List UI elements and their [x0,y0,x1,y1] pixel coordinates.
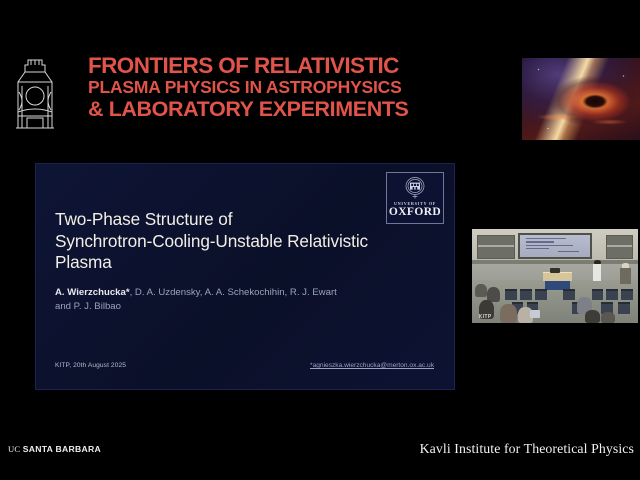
kitp-building-icon [8,56,62,136]
slide-contact-email[interactable]: *agnieszka.wierzchucka@merton.ox.ac.uk [310,362,434,369]
audience-laptop [530,310,540,318]
slide-title: Two-Phase Structure of Synchrotron-Cooli… [55,209,385,274]
coauthor-names: , D. A. Uzdensky, A. A. Schekochihin, R.… [130,287,337,298]
audience-member [500,304,517,323]
audience-member [585,310,600,323]
ucsb-logo-uc: UC [8,444,23,454]
ucsb-logo: UC SANTA BARBARA [8,444,101,454]
astro-jet-graphic [522,58,640,140]
lecture-hall-camera-feed[interactable]: KITP [470,227,640,325]
conference-title-line-3: & LABORATORY EXPERIMENTS [88,98,488,121]
presenter-laptop [550,268,560,273]
kitp-watermark: KITP [479,314,492,320]
audience-chair [606,289,618,300]
lecture-hall-scene: KITP [472,229,638,323]
oxford-logo-line-2: OXFORD [389,206,441,218]
conference-header-banner: FRONTIERS OF RELATIVISTIC PLASMA PHYSICS… [0,40,512,148]
conference-title: FRONTIERS OF RELATIVISTIC PLASMA PHYSICS… [88,54,488,121]
first-author-name: A. Wierzchucka* [55,287,130,298]
audience-chair [563,289,575,300]
astrophysical-jet-thumbnail[interactable] [512,48,640,148]
slide-author-list: A. Wierzchucka*, D. A. Uzdensky, A. A. S… [55,286,415,313]
presentation-slide[interactable]: UNIVERSITY OF OXFORD Two-Phase Structure… [35,163,455,390]
audience-chair [535,289,547,300]
author-list-line-2: and P. J. Bilbao [55,300,415,314]
conference-title-line-2: PLASMA PHYSICS IN ASTROPHYSICS [88,77,488,98]
audience-chair [592,289,604,300]
audience-chair [505,289,517,300]
audience-chair [520,289,532,300]
audience-member [475,284,487,297]
letterbox-top [0,0,640,40]
ucsb-logo-name: SANTA BARBARA [23,444,101,454]
oxford-university-logo: UNIVERSITY OF OXFORD [386,172,444,224]
podium-lamp [620,268,632,283]
projector-screen [518,233,591,259]
speaker-figure [593,260,601,281]
slide-title-line-3: Plasma [55,252,385,274]
video-player-stage: FRONTIERS OF RELATIVISTIC PLASMA PHYSICS… [0,0,640,480]
footer-bar: UC SANTA BARBARA Kavli Institute for The… [0,438,640,480]
oxford-crest-icon [404,176,426,200]
chalk-rail [472,260,638,264]
audience-chair [618,302,630,313]
chalkboard-right [606,235,633,259]
kavli-institute-label: Kavli Institute for Theoretical Physics [420,441,634,457]
slide-title-line-2: Synchrotron-Cooling-Unstable Relativisti… [55,231,385,253]
conference-title-line-1: FRONTIERS OF RELATIVISTIC [88,54,488,77]
slide-venue-date: KITP, 20th August 2025 [55,362,126,369]
presenter-desk [543,272,571,280]
audience-member [601,312,614,323]
chalkboard-left [477,235,515,259]
audience-chair [621,289,633,300]
slide-title-line-1: Two-Phase Structure of [55,209,385,231]
